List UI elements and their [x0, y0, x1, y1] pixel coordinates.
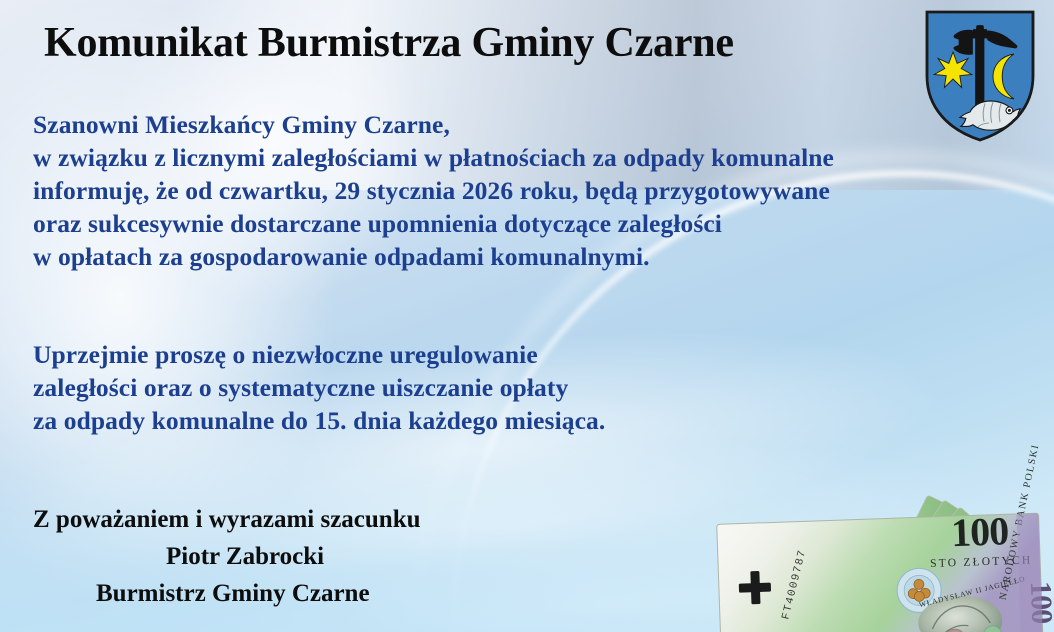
paragraph-notice: Szanowni Mieszkańcy Gminy Czarne, w zwią…	[33, 108, 834, 273]
paragraph-line: w opłatach za gospodarowanie odpadami ko…	[33, 240, 834, 273]
paragraph-line: Uprzejmie proszę o niezwłoczne uregulowa…	[33, 338, 605, 371]
signature-closing: Z poważaniem i wyrazami szacunku	[33, 501, 421, 538]
paragraph-line: w związku z licznymi zaległościami w pła…	[33, 141, 834, 174]
paragraph-line: Szanowni Mieszkańcy Gminy Czarne,	[33, 108, 834, 141]
signature-block: Z poważaniem i wyrazami szacunku Piotr Z…	[33, 501, 421, 612]
signature-office: Burmistrz Gminy Czarne	[33, 575, 421, 612]
paragraph-line: za odpady komunalne do 15. dnia każdego …	[33, 404, 605, 437]
paragraph-line: zaległości oraz o systematyczne uiszczan…	[33, 371, 605, 404]
paragraph-line: oraz sukcesywnie dostarczane upomnienia …	[33, 207, 834, 240]
announcement-poster: Komunikat Burmistrza Gminy Czarne	[0, 0, 1054, 632]
coat-of-arms	[923, 8, 1037, 144]
page-title: Komunikat Burmistrza Gminy Czarne	[44, 20, 874, 67]
signature-name: Piotr Zabrocki	[33, 538, 421, 575]
paragraph-line: informuję, że od czwartku, 29 stycznia 2…	[33, 174, 834, 207]
paragraph-request: Uprzejmie proszę o niezwłoczne uregulowa…	[33, 338, 605, 437]
